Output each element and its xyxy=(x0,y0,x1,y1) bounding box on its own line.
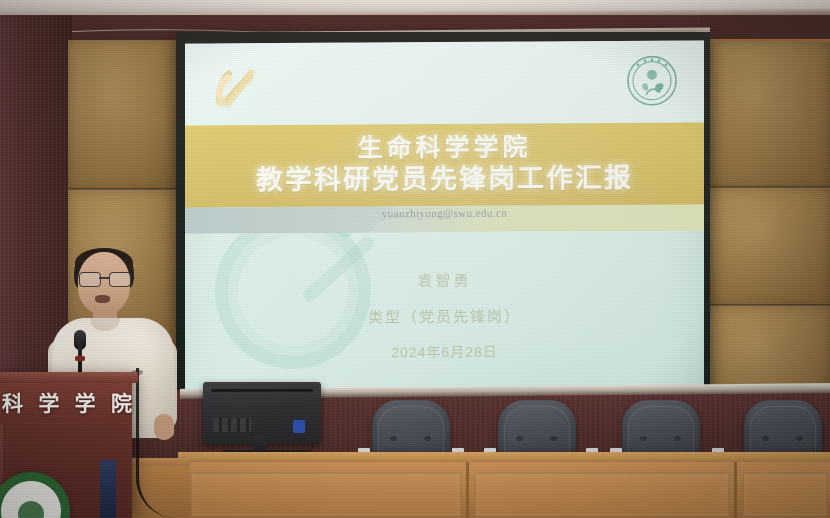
podium-char: 学 xyxy=(38,388,59,418)
lecture-hall-photo: 生命科学学院 教学科研党员先锋岗工作汇报 yuanzhiyong@swu.edu… xyxy=(0,0,830,518)
podium-char: 院 xyxy=(111,388,132,418)
desk-seam xyxy=(466,462,469,518)
desk-seam xyxy=(734,462,737,518)
chair xyxy=(744,400,822,460)
mouth xyxy=(95,295,110,303)
presentation-date: 2024年6月28日 xyxy=(185,340,704,363)
presentation-type: 类型（党员先锋岗） xyxy=(185,304,704,328)
cpc-emblem-icon xyxy=(207,61,263,111)
chair xyxy=(498,400,576,460)
podium-cable xyxy=(136,368,187,518)
acoustic-panel xyxy=(708,188,830,306)
slide-title-line-2: 教学科研党员先锋岗工作汇报 xyxy=(256,163,633,196)
projection-screen: 生命科学学院 教学科研党员先锋岗工作汇报 yuanzhiyong@swu.edu… xyxy=(185,40,704,437)
microphone-ring xyxy=(75,356,85,361)
chair xyxy=(372,400,450,460)
desk-panel xyxy=(742,472,828,518)
acoustic-panel xyxy=(68,40,180,190)
slide-author-block: 袁智勇 类型（党员先锋岗） 2024年6月28日 xyxy=(185,268,704,363)
podium-top-ledge xyxy=(0,372,138,383)
desk-panel xyxy=(474,472,730,518)
podium-blue-object xyxy=(100,460,116,518)
presenter-name: 袁智勇 xyxy=(185,268,704,292)
monitor-vent xyxy=(211,389,313,392)
slide-title-band: 生命科学学院 教学科研党员先锋岗工作汇报 xyxy=(185,122,704,207)
panel-seam xyxy=(68,188,180,191)
panel-seam xyxy=(708,186,830,189)
podium-char: 科 xyxy=(2,388,23,418)
acoustic-panel xyxy=(708,42,830,188)
panel-seam xyxy=(708,304,830,307)
podium-inscription: 科 学 学 院 xyxy=(2,388,132,418)
podium-char: 学 xyxy=(75,388,96,418)
eyeglasses-icon xyxy=(79,272,129,285)
desk-panel xyxy=(190,472,462,518)
monitor-ports xyxy=(213,418,251,432)
college-seal-icon xyxy=(626,55,678,107)
slide-header-band xyxy=(185,40,704,125)
slide-title-line-1: 生命科学学院 xyxy=(357,134,531,161)
chair xyxy=(622,400,700,460)
